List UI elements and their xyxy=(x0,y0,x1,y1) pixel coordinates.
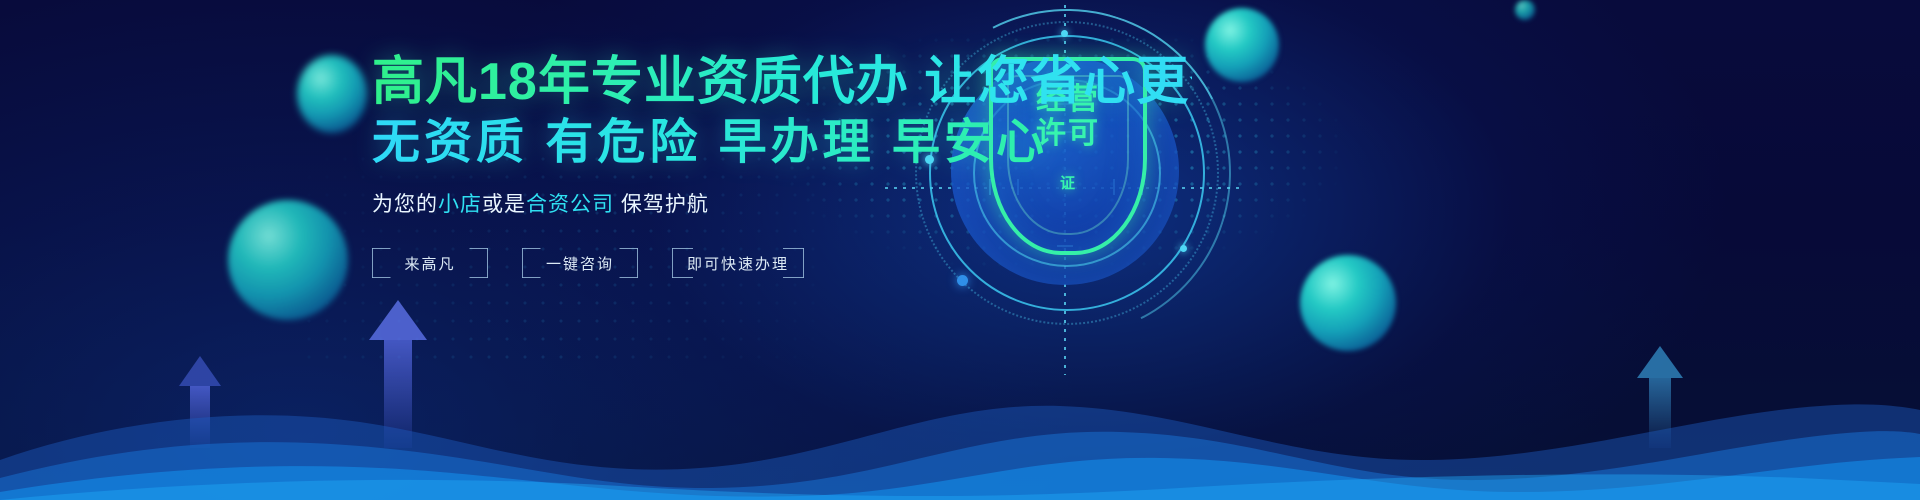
banner-copy: 高凡18年专业资质代办 让您省心更省力 无资质 有危险 早办理 早安心 为您的小… xyxy=(372,52,1192,278)
sub-highlight-joint-venture: 合资公司 xyxy=(526,193,614,216)
decorative-sphere xyxy=(228,200,348,320)
sub-headline: 为您的小店或是合资公司 保驾护航 xyxy=(372,188,1192,218)
decorative-sphere xyxy=(297,55,367,133)
headline-secondary: 无资质 有危险 早办理 早安心 xyxy=(372,112,1192,174)
cta-pill-fast-processing[interactable]: 即可快速办理 xyxy=(672,248,804,278)
sub-suffix: 保驾护航 xyxy=(614,193,709,216)
sub-prefix: 为您的 xyxy=(372,193,438,216)
sub-middle: 或是 xyxy=(482,193,526,216)
sub-highlight-small-shop: 小店 xyxy=(438,193,482,216)
cta-pill-label: 来高凡 xyxy=(404,253,455,274)
cta-pill-label: 一键咨询 xyxy=(546,253,614,274)
cta-pill-come-to-gaofan[interactable]: 来高凡 xyxy=(372,248,488,278)
wave-decoration xyxy=(0,310,1920,500)
decorative-sphere xyxy=(1515,0,1535,20)
cta-pill-one-click-consult[interactable]: 一键咨询 xyxy=(522,248,638,278)
cta-pill-label: 即可快速办理 xyxy=(687,253,789,274)
headline-primary: 高凡18年专业资质代办 让您省心更省力 xyxy=(372,52,1192,112)
emblem-node-dot xyxy=(1061,30,1068,37)
promo-banner: 经营 许可 证 高凡18年专业资质代办 让您省心更省力 无资质 有危险 早办理 … xyxy=(0,0,1920,500)
cta-pill-group: 来高凡 一键咨询 即可快速办理 xyxy=(372,248,1192,278)
